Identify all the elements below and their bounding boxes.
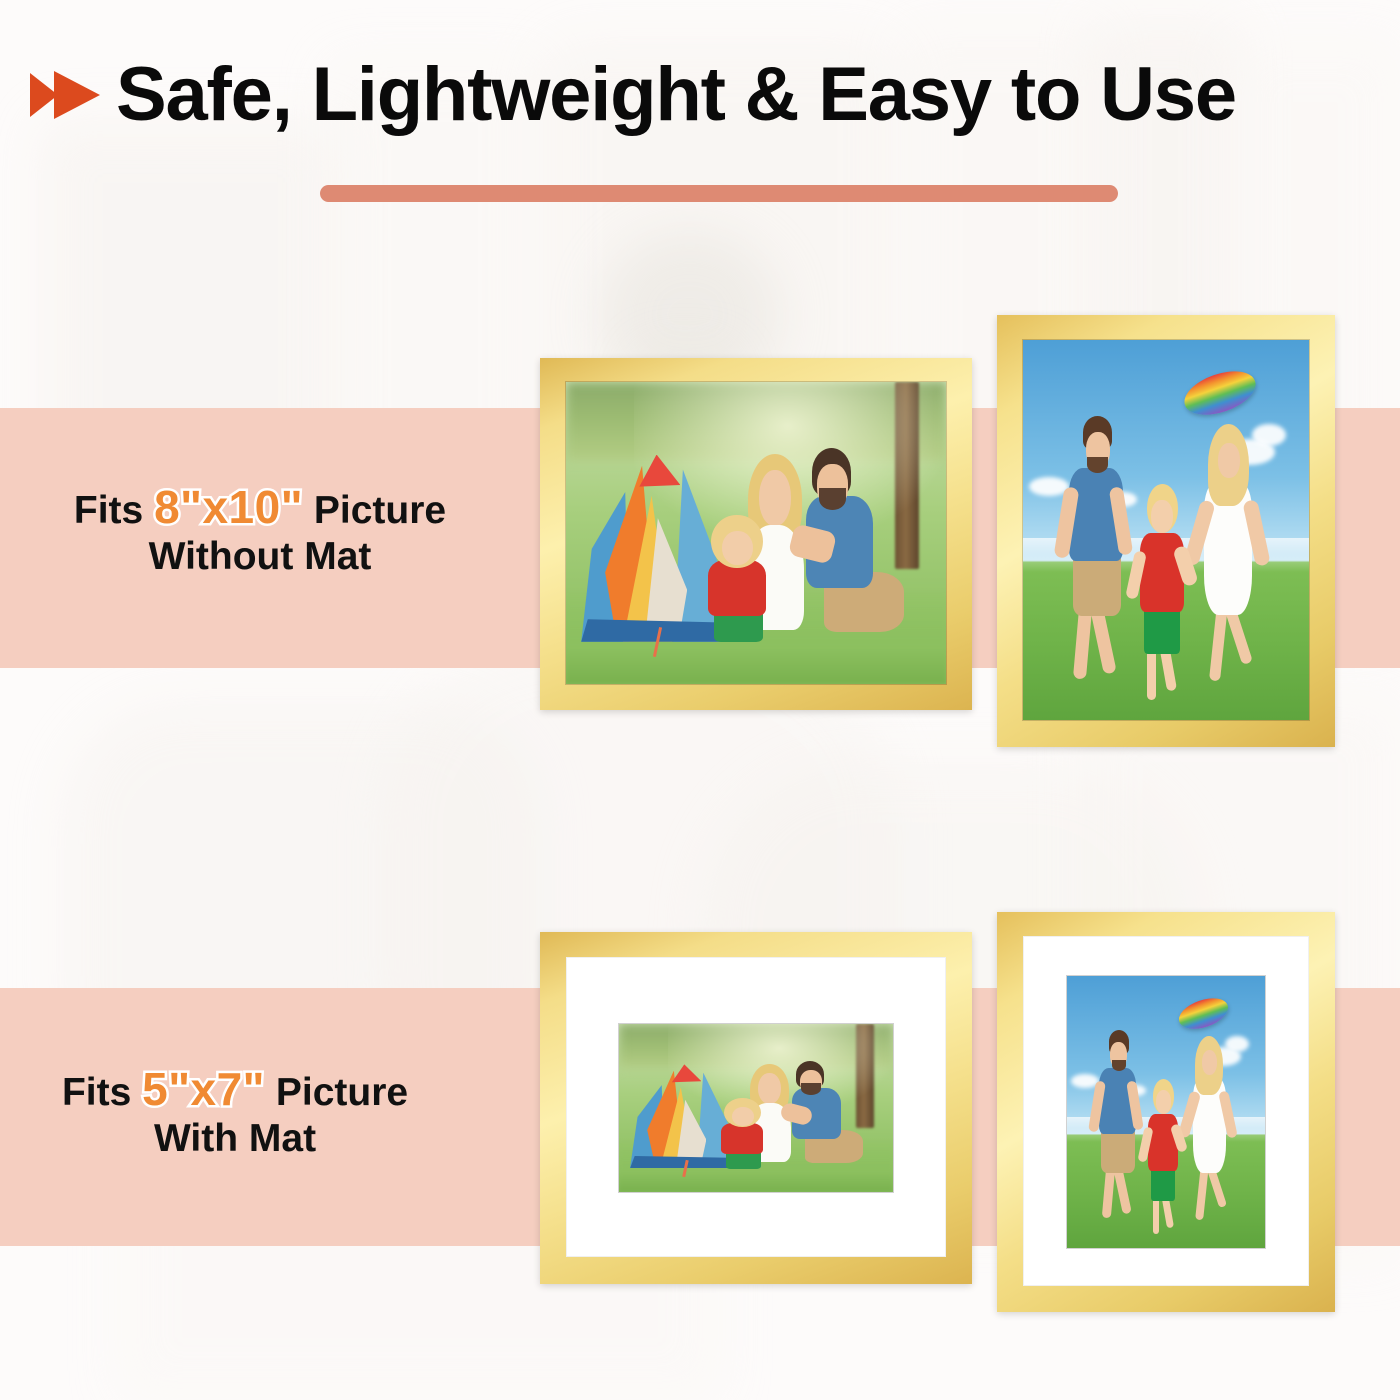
size-highlight: 5"x7" (142, 1063, 265, 1115)
double-arrow-right-icon (28, 68, 106, 122)
family-camping-tent-photo (566, 382, 946, 684)
bottom-left-frame (540, 932, 972, 1284)
header: Safe, Lightweight & Easy to Use (0, 40, 1400, 150)
caption-without-mat: Fits 8"x10" Picture Without Mat (0, 480, 520, 580)
size-highlight: 8"x10" (154, 481, 303, 533)
top-right-frame (997, 315, 1335, 747)
caption-with-mat: Fits 5"x7" Picture With Mat (0, 1062, 470, 1162)
bottom-right-frame (997, 912, 1335, 1312)
family-running-frisbee-photo (1023, 340, 1309, 720)
mother-figure (1189, 424, 1275, 698)
page-title: Safe, Lightweight & Easy to Use (116, 57, 1236, 133)
child-figure (1129, 484, 1198, 704)
rainbow-frisbee (1175, 993, 1233, 1035)
caption-line-2: Without Mat (0, 534, 520, 580)
caption-line-1: Fits 5"x7" Picture (0, 1062, 470, 1116)
family-camping-tent-photo (619, 1024, 893, 1192)
title-divider (320, 185, 1118, 202)
father-figure (802, 448, 905, 647)
child-figure (1140, 1079, 1188, 1237)
rainbow-frisbee (1179, 363, 1262, 423)
child-figure (720, 1098, 764, 1172)
caption-line-2: With Mat (0, 1116, 470, 1162)
child-figure (707, 515, 768, 648)
caption-line-1: Fits 8"x10" Picture (0, 480, 520, 534)
caption-suffix: Picture (276, 1071, 408, 1114)
family-running-frisbee-photo (1067, 976, 1265, 1248)
mother-figure (1182, 1036, 1241, 1232)
caption-prefix: Fits (62, 1071, 131, 1114)
top-left-frame (540, 358, 972, 710)
caption-prefix: Fits (74, 489, 143, 532)
caption-suffix: Picture (314, 489, 446, 532)
infographic-canvas: Safe, Lightweight & Easy to Use Fits 8"x… (0, 0, 1400, 1400)
father-figure (789, 1061, 863, 1172)
